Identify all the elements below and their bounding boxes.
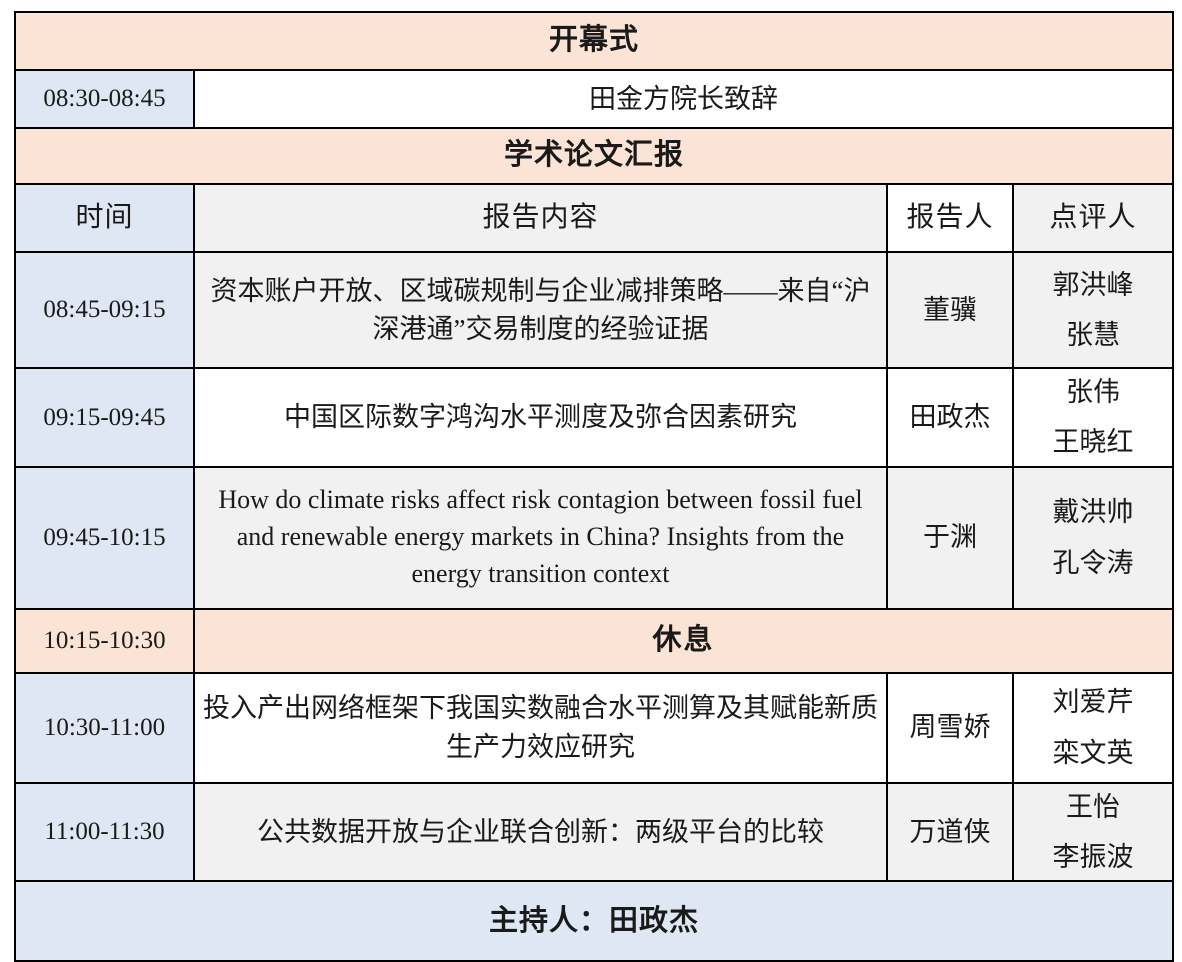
session-host: 主持人：田政杰 [15,881,1173,961]
reviewer-name: 李振波 [1020,838,1166,876]
row-content: How do climate risks affect risk contagi… [194,467,887,609]
opening-speech-activity: 田金方院长致辞 [194,70,1173,128]
row-reviewers: 刘爱芹 栾文英 [1013,673,1173,783]
reviewer-name: 刘爱芹 [1020,683,1166,721]
section-header-academic-reports: 学术论文汇报 [15,128,1173,184]
table-header-row: 时间 报告内容 报告人 点评人 [15,184,1173,252]
reviewer-name: 王怡 [1020,788,1166,826]
table-row: 09:15-09:45 中国区际数字鸿沟水平测度及弥合因素研究 田政杰 张伟 王… [15,368,1173,467]
row-time: 09:15-09:45 [15,368,194,467]
section-header-opening-ceremony: 开幕式 [15,12,1173,70]
reviewer-name: 张慧 [1020,316,1166,354]
opening-speech-time: 08:30-08:45 [15,70,194,128]
reviewer-name: 戴洪帅 [1020,493,1166,531]
table-row-opening-speech: 08:30-08:45 田金方院长致辞 [15,70,1173,128]
reviewer-name: 王晓红 [1020,423,1166,461]
row-time: 09:45-10:15 [15,467,194,609]
row-content: 投入产出网络框架下我国实数融合水平测算及其赋能新质生产力效应研究 [194,673,887,783]
schedule-table-container: 开幕式 08:30-08:45 田金方院长致辞 学术论文汇报 时间 报告内容 报… [14,11,1172,883]
row-time: 10:30-11:00 [15,673,194,783]
table-row-host: 主持人：田政杰 [15,881,1173,961]
row-time: 08:45-09:15 [15,252,194,368]
table-row-opening-ceremony: 开幕式 [15,12,1173,70]
row-reviewers: 戴洪帅 孔令涛 [1013,467,1173,609]
row-reviewers: 王怡 李振波 [1013,783,1173,882]
table-row-break: 10:15-10:30 休息 [15,609,1173,673]
row-time: 11:00-11:30 [15,783,194,882]
row-content: 公共数据开放与企业联合创新：两级平台的比较 [194,783,887,882]
reviewer-name: 栾文英 [1020,734,1166,772]
row-speaker: 万道侠 [887,783,1013,882]
row-content: 资本账户开放、区域碳规制与企业减排策略——来自“沪深港通”交易制度的经验证据 [194,252,887,368]
conference-schedule-table: 开幕式 08:30-08:45 田金方院长致辞 学术论文汇报 时间 报告内容 报… [14,11,1174,962]
row-speaker: 于渊 [887,467,1013,609]
column-header-time: 时间 [15,184,194,252]
table-row: 08:45-09:15 资本账户开放、区域碳规制与企业减排策略——来自“沪深港通… [15,252,1173,368]
row-content: 中国区际数字鸿沟水平测度及弥合因素研究 [194,368,887,467]
table-row: 11:00-11:30 公共数据开放与企业联合创新：两级平台的比较 万道侠 王怡… [15,783,1173,882]
reviewer-name: 张伟 [1020,373,1166,411]
row-reviewers: 郭洪峰 张慧 [1013,252,1173,368]
row-reviewers: 张伟 王晓红 [1013,368,1173,467]
column-header-speaker: 报告人 [887,184,1013,252]
table-row: 10:30-11:00 投入产出网络框架下我国实数融合水平测算及其赋能新质生产力… [15,673,1173,783]
row-speaker: 董骥 [887,252,1013,368]
break-label: 休息 [194,609,1173,673]
row-speaker: 周雪娇 [887,673,1013,783]
row-speaker: 田政杰 [887,368,1013,467]
table-row: 09:45-10:15 How do climate risks affect … [15,467,1173,609]
break-time: 10:15-10:30 [15,609,194,673]
table-row-academic-section: 学术论文汇报 [15,128,1173,184]
column-header-content: 报告内容 [194,184,887,252]
column-header-reviewer: 点评人 [1013,184,1173,252]
reviewer-name: 孔令涛 [1020,544,1166,582]
reviewer-name: 郭洪峰 [1020,266,1166,304]
